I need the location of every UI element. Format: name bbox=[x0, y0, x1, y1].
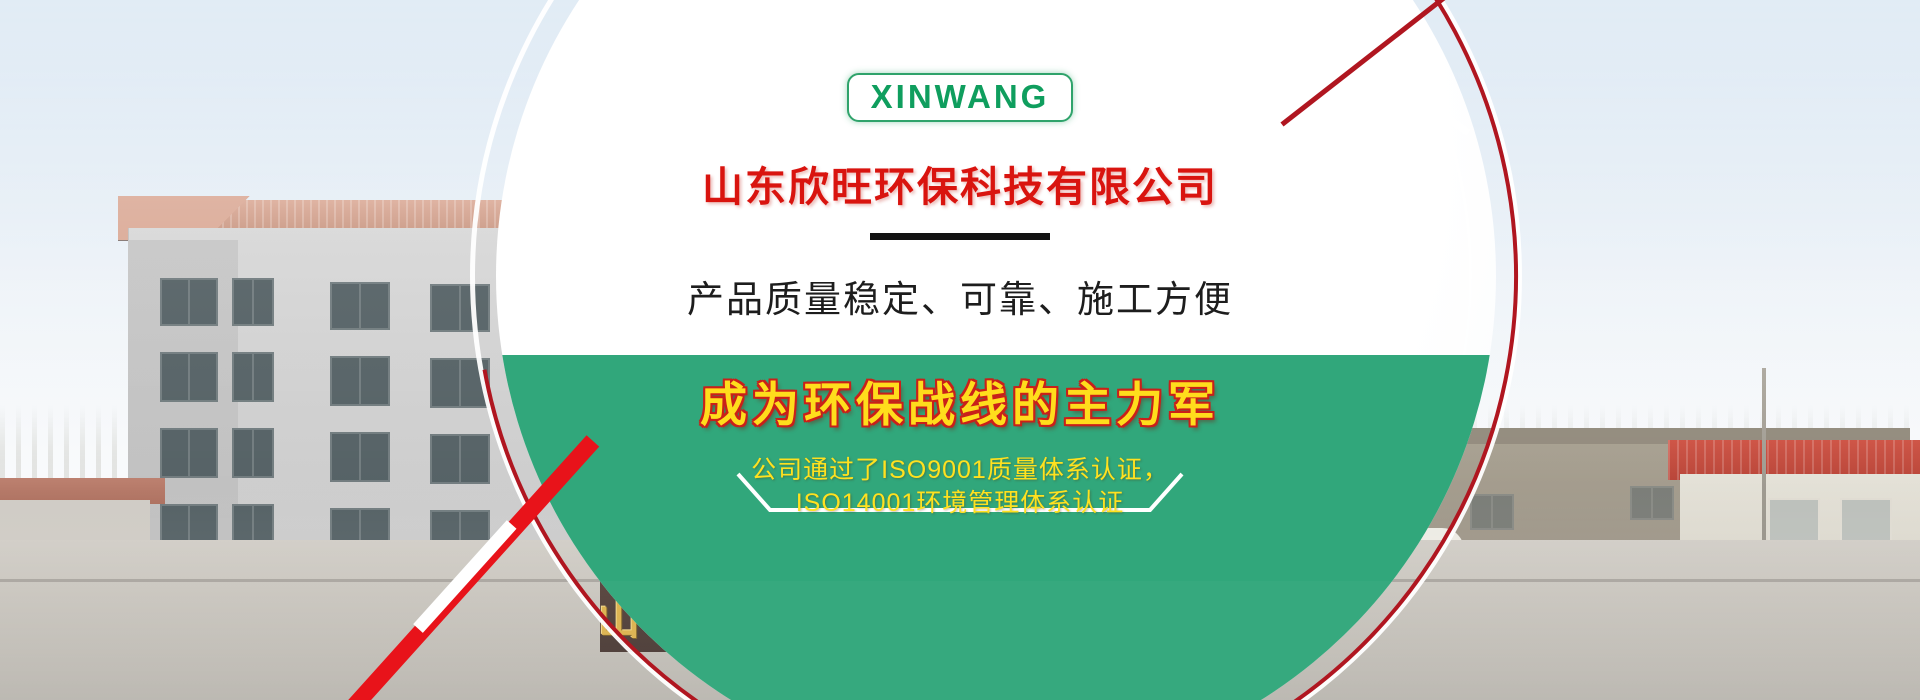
promotional-banner: 山东欣旺环保科技有限公司 XINWANG 山东欣旺环保科技有限公司 bbox=[0, 0, 1920, 700]
slogan-text: 成为环保战线的主力军 bbox=[700, 366, 1220, 435]
brand-badge: XINWANG bbox=[847, 73, 1074, 122]
product-subtitle: 产品质量稳定、可靠、施工方便 bbox=[687, 269, 1233, 323]
certification-text: 公司通过了ISO9001质量体系认证， ISO14001环境管理体系认证 bbox=[751, 454, 1169, 520]
banner-content: XINWANG 山东欣旺环保科技有限公司 产品质量稳定、可靠、施工方便 成为环保… bbox=[0, 0, 1920, 700]
company-name: 山东欣旺环保科技有限公司 bbox=[702, 153, 1218, 213]
certification-line-1: 公司通过了ISO9001质量体系认证， bbox=[751, 454, 1169, 487]
certification-line-2: ISO14001环境管理体系认证 bbox=[751, 487, 1169, 520]
title-divider bbox=[870, 233, 1050, 240]
slogan-container: 成为环保战线的主力军 bbox=[460, 352, 1460, 448]
